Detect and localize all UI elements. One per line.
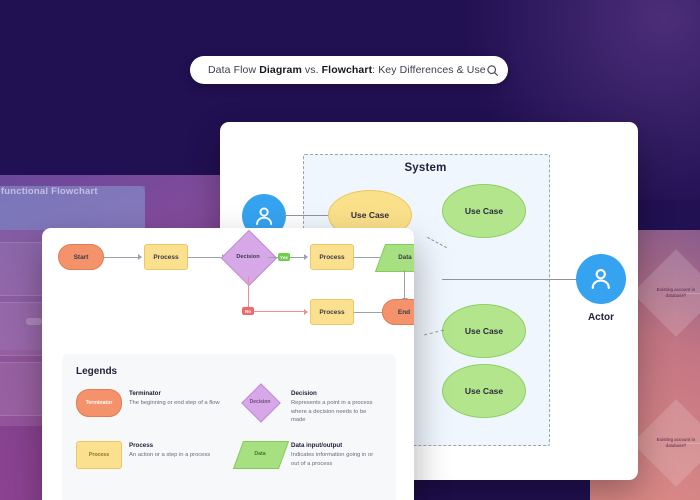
decision-shape-wrapper: Decision bbox=[238, 389, 282, 415]
edge-label-yes: Yes bbox=[278, 253, 290, 261]
search-text-bold-2: Flowchart bbox=[322, 64, 373, 76]
actor-avatar-right[interactable] bbox=[576, 254, 626, 304]
use-case-node-2[interactable]: Use Case bbox=[442, 184, 526, 238]
legend-shape-process: Process bbox=[76, 441, 120, 467]
flow-node-data[interactable]: Data bbox=[380, 244, 414, 270]
decision-label: Decision bbox=[229, 238, 267, 276]
process-shape: Process bbox=[76, 441, 122, 469]
legends-panel: Legends Terminator Terminator The beginn… bbox=[62, 354, 396, 500]
edge-process2-to-data bbox=[354, 257, 382, 258]
arrowhead bbox=[138, 254, 142, 260]
background-ghost-card-label: s-functional Flowchart bbox=[0, 186, 182, 197]
search-text-part-1: Data Flow bbox=[208, 64, 259, 76]
legend-shape-data: Data bbox=[238, 441, 282, 467]
edge-decision-yes bbox=[268, 257, 278, 258]
legends-title: Legends bbox=[76, 366, 382, 377]
flow-node-decision[interactable]: Decision bbox=[229, 238, 267, 276]
legend-name: Terminator bbox=[129, 390, 220, 397]
legend-name: Process bbox=[129, 442, 210, 449]
legend-item-decision: Decision Decision Represents a point in … bbox=[238, 389, 382, 425]
legend-text-process: Process An action or a step in a process bbox=[129, 441, 210, 460]
edge-process3-to-end bbox=[354, 312, 382, 313]
legend-item-terminator: Terminator Terminator The beginning or e… bbox=[76, 389, 220, 425]
legend-desc: The beginning or end step of a flow bbox=[129, 399, 220, 408]
legend-text-data: Data input/output Indicates information … bbox=[291, 441, 382, 468]
legend-shape-terminator: Terminator bbox=[76, 389, 120, 415]
edge-no-to-process3 bbox=[254, 311, 304, 312]
search-text-part-2: : Key Differences & Use bbox=[372, 64, 486, 76]
edge-start-to-process1 bbox=[104, 257, 138, 258]
search-text-bold-1: Diagram bbox=[259, 64, 302, 76]
screenshot-stage: s-functional Flowchart Existing account … bbox=[0, 0, 700, 500]
arrowhead bbox=[304, 254, 308, 260]
edge-data-to-end bbox=[404, 270, 405, 298]
legend-desc: Represents a point in a process where a … bbox=[291, 399, 382, 425]
connector-system-to-actor bbox=[442, 279, 586, 280]
flowchart-card[interactable]: Start Process Decision Yes Process Data … bbox=[42, 228, 414, 500]
data-label: Data bbox=[380, 244, 414, 270]
legend-desc: Indicates information going in or out of… bbox=[291, 451, 382, 468]
search-query-text: Data Flow Diagram vs. Flowchart: Key Dif… bbox=[208, 64, 486, 76]
background-ghost-line bbox=[686, 443, 700, 444]
flow-node-start[interactable]: Start bbox=[58, 244, 104, 270]
flow-node-process-1[interactable]: Process bbox=[144, 244, 188, 270]
search-text-mid: vs. bbox=[302, 64, 322, 76]
use-case-node-3[interactable]: Use Case bbox=[442, 304, 526, 358]
ghost-chip bbox=[26, 318, 42, 325]
edge-label-no: No bbox=[242, 307, 254, 315]
data-shape-label: Data bbox=[238, 441, 282, 467]
legend-text-terminator: Terminator The beginning or end step of … bbox=[129, 389, 220, 408]
flow-node-end[interactable]: End bbox=[382, 299, 414, 325]
flow-node-process-2[interactable]: Process bbox=[310, 244, 354, 270]
decision-shape-label: Decision bbox=[238, 389, 282, 415]
legend-item-process: Process Process An action or a step in a… bbox=[76, 441, 220, 468]
data-shape-wrapper: Data bbox=[238, 441, 282, 467]
legend-name: Decision bbox=[291, 390, 382, 397]
edge-process1-to-decision bbox=[188, 257, 222, 258]
actor-label: Actor bbox=[566, 312, 636, 323]
background-ghost-line bbox=[686, 293, 700, 294]
legend-name: Data input/output bbox=[291, 442, 382, 449]
legend-desc: An action or a step in a process bbox=[129, 451, 210, 460]
search-bar[interactable]: Data Flow Diagram vs. Flowchart: Key Dif… bbox=[190, 56, 508, 84]
use-case-node-4[interactable]: Use Case bbox=[442, 364, 526, 418]
arrowhead bbox=[304, 309, 308, 315]
search-icon[interactable] bbox=[486, 64, 499, 77]
edge-yes-to-process2 bbox=[290, 257, 304, 258]
legend-item-data: Data Data input/output Indicates informa… bbox=[238, 441, 382, 468]
legend-shape-decision: Decision bbox=[238, 389, 282, 415]
flow-node-process-3[interactable]: Process bbox=[310, 299, 354, 325]
legend-text-decision: Decision Represents a point in a process… bbox=[291, 389, 382, 425]
system-title: System bbox=[303, 162, 548, 174]
legends-grid: Terminator Terminator The beginning or e… bbox=[76, 389, 382, 468]
terminator-shape: Terminator bbox=[76, 389, 122, 417]
